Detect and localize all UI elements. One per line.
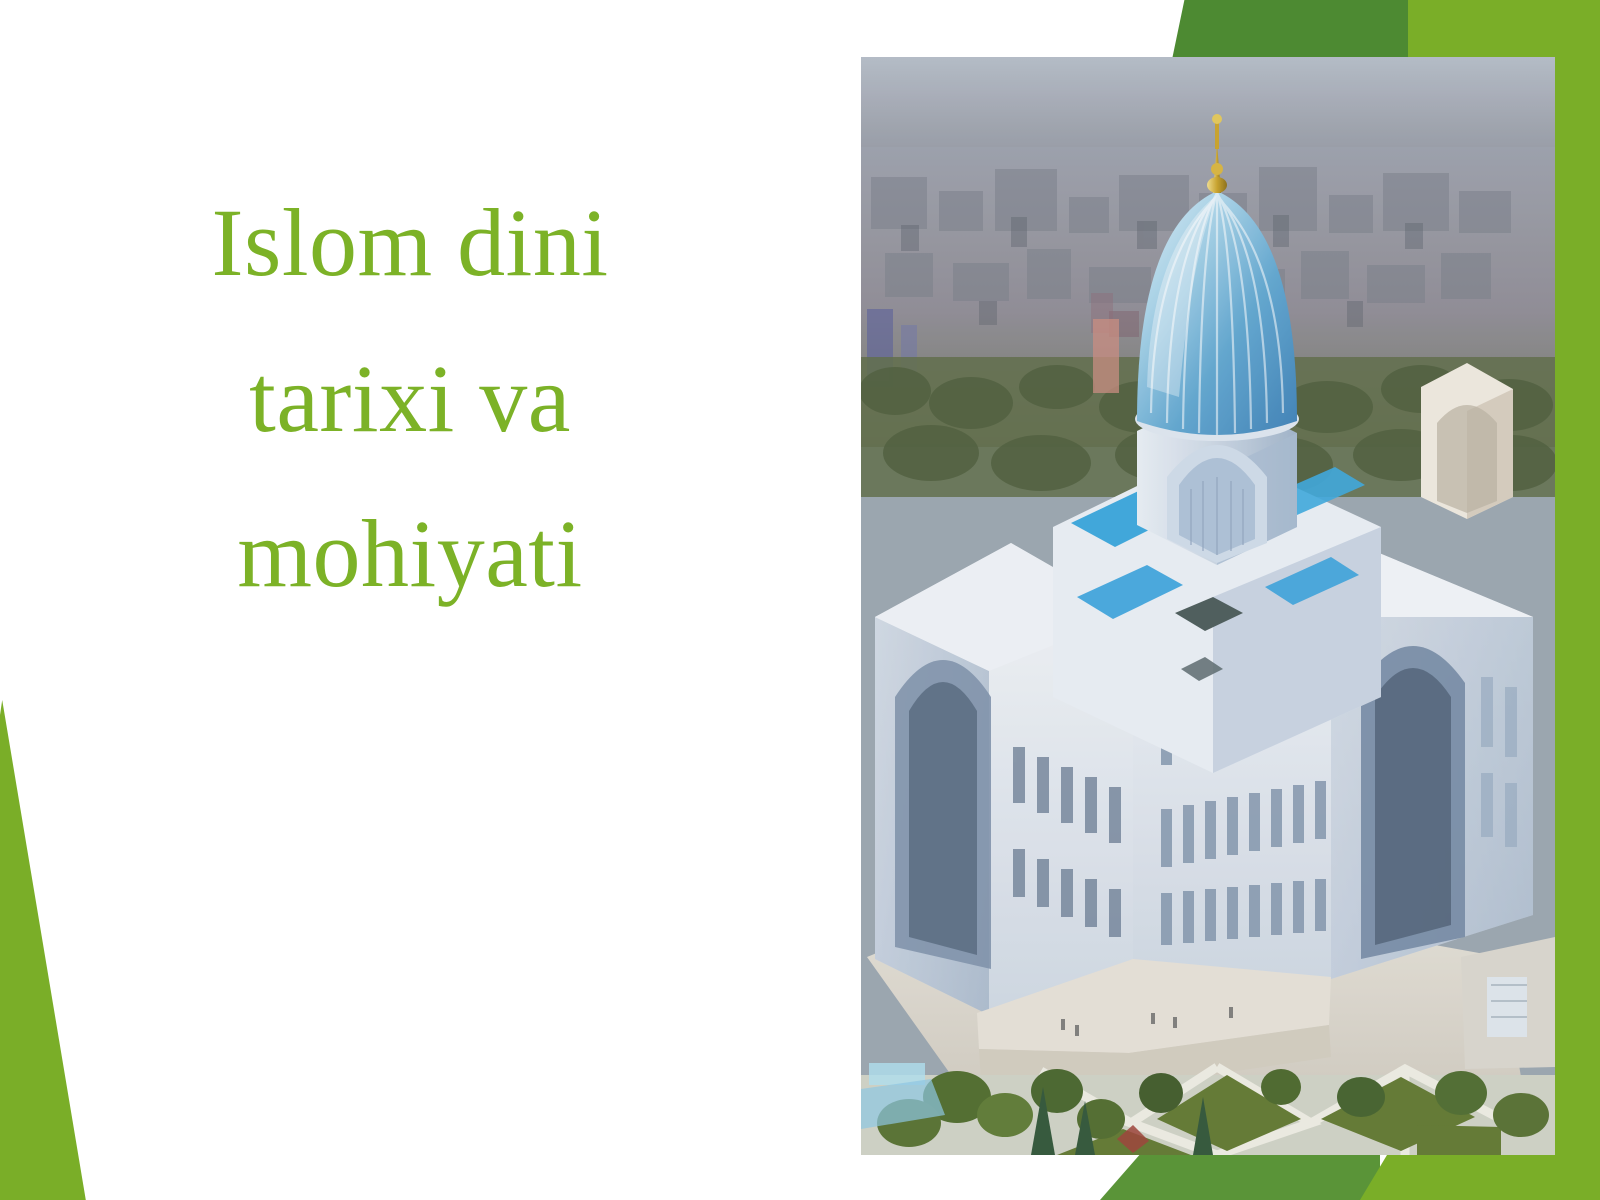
slide-title: Islom dini tarixi va mohiyati xyxy=(60,165,760,632)
bottom-left-green-wedge xyxy=(0,700,110,1200)
mosque-photo-illustration xyxy=(861,57,1555,1155)
mosque-aerial-photo xyxy=(861,57,1555,1155)
title-line-3: mohiyati xyxy=(60,476,760,632)
bottom-right-dark-green-shape xyxy=(1100,1152,1380,1200)
bottom-right-light-green-shape xyxy=(1360,1152,1600,1200)
title-line-1: Islom dini xyxy=(60,165,760,321)
presentation-slide: Islom dini tarixi va mohiyati xyxy=(0,0,1600,1200)
title-line-2: tarixi va xyxy=(60,321,760,477)
